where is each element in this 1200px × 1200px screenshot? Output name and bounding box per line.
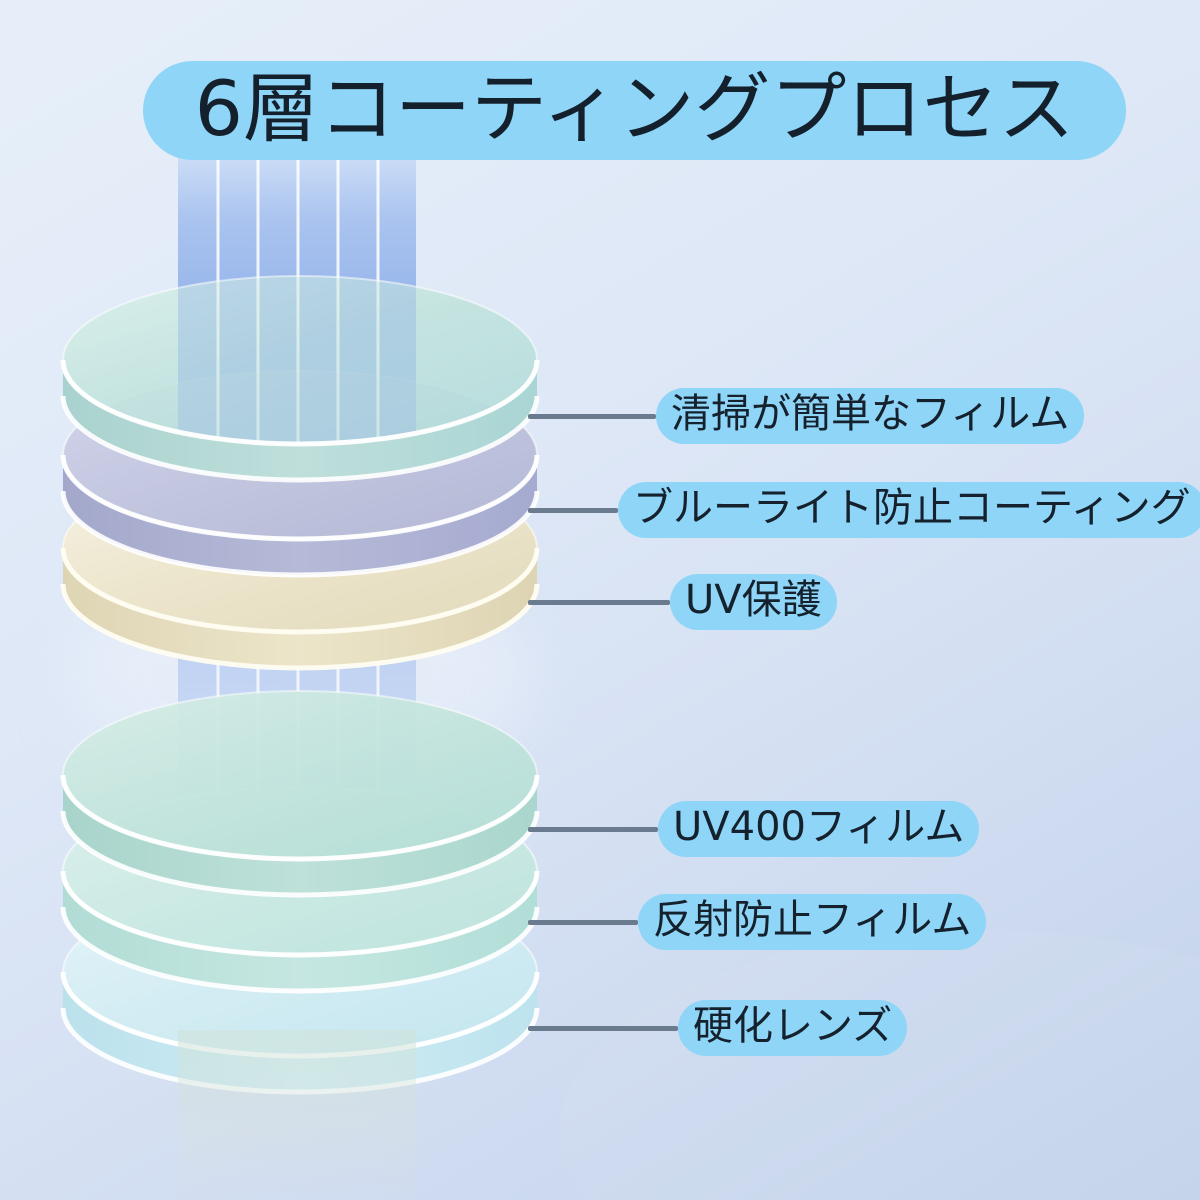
leader-line-5 — [528, 920, 638, 925]
leader-line-6 — [528, 1026, 678, 1031]
label-hardened-lens: 硬化レンズ — [678, 1000, 907, 1056]
layer-easy-clean-film — [63, 270, 537, 480]
page-title: 6層コーティングプロセス — [195, 71, 1075, 147]
label-uv400-film: UV400フィルム — [658, 801, 979, 857]
callout-uv400-film: UV400フィルム — [528, 801, 979, 857]
callout-hardened-lens: 硬化レンズ — [528, 1000, 907, 1056]
label-easy-clean-film: 清掃が簡単なフィルム — [656, 388, 1084, 444]
page-title-pill: 6層コーティングプロセス — [143, 61, 1126, 160]
leader-line-4 — [528, 827, 658, 832]
label-blue-light-blocking-coating: ブルーライト防止コーティング — [618, 482, 1200, 538]
label-uv-protection: UV保護 — [670, 574, 837, 630]
callout-anti-reflective-film: 反射防止フィルム — [528, 894, 986, 950]
leader-line-2 — [528, 508, 618, 513]
leader-line-1 — [528, 414, 656, 419]
label-anti-reflective-film: 反射防止フィルム — [638, 894, 986, 950]
callout-blue-light-blocking-coating: ブルーライト防止コーティング — [528, 482, 1200, 538]
infographic-canvas: 6層コーティングプロセス 清掃が簡単なフィルム ブルーライト防止コーティング U… — [0, 0, 1200, 1200]
callout-easy-clean-film: 清掃が簡単なフィルム — [528, 388, 1084, 444]
blue-light-beam-exit — [178, 1030, 416, 1200]
callout-uv-protection: UV保護 — [528, 574, 837, 630]
leader-line-3 — [528, 600, 670, 605]
layer-uv400-film — [63, 691, 537, 895]
